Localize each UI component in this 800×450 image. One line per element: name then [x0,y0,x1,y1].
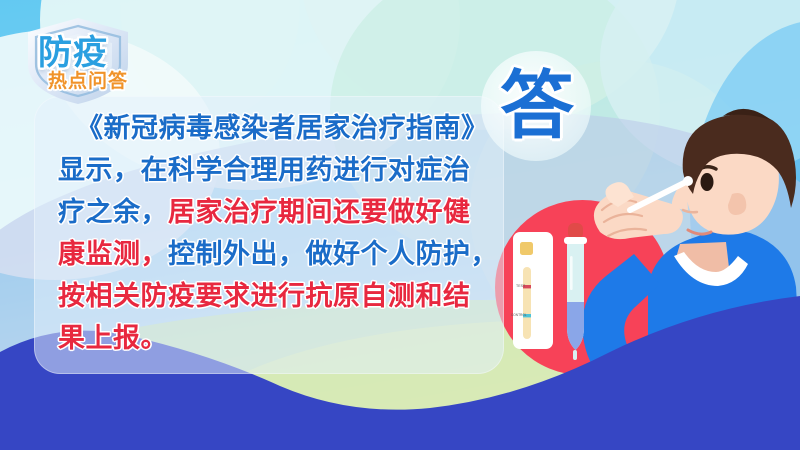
body-line-6: 果上报。 [58,323,168,354]
svg-text:TEST: TEST [516,284,526,288]
body-line-3a: 疗之余， [58,197,168,228]
body-line-2: 显示，在科学合理用药进行对症治 [58,155,471,186]
program-logo: 防疫 热点问答 [8,14,148,106]
body-line-4a: 康监测， [58,239,168,270]
body-line-4b: 控制外出，做好个人防护， [168,239,498,270]
body-line-1: 《新冠病毒感染者居家治疗指南》 [76,113,489,144]
answer-badge-label: 答 [492,56,582,156]
body-line-3b: 居家治疗期间还要做好健 [168,197,471,228]
poster-canvas: TEST CONTROL 《新冠病毒感染者居家治疗指南》 显示，在科学合理用药进… [0,0,800,450]
logo-sub-text: 热点问答 [48,72,128,91]
body-line-5: 按相关防疫要求进行抗原自测和结 [58,281,471,312]
logo-main-text: 防疫 [38,36,108,70]
answer-body-text: 《新冠病毒感染者居家治疗指南》 显示，在科学合理用药进行对症治 疗之余，居家治疗… [58,108,488,360]
